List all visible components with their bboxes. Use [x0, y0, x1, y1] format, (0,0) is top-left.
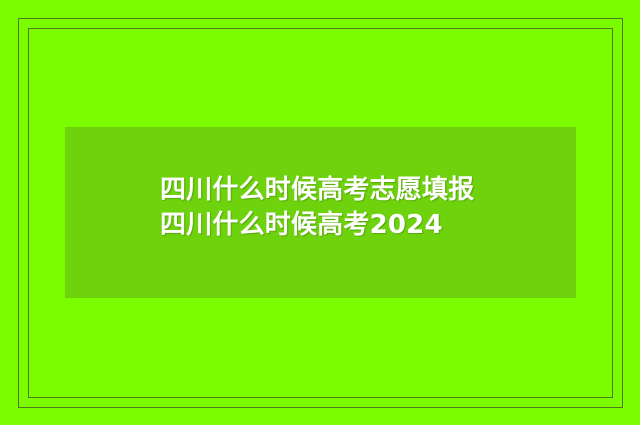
headline-line-1: 四川什么时候高考志愿填报	[160, 173, 560, 208]
headline-block: 四川什么时候高考志愿填报 四川什么时候高考2024	[160, 173, 560, 243]
content-panel: 四川什么时候高考志愿填报 四川什么时候高考2024	[65, 127, 576, 298]
image-canvas: 四川什么时候高考志愿填报 四川什么时候高考2024	[0, 0, 640, 425]
headline-line-2: 四川什么时候高考2024	[160, 208, 560, 243]
